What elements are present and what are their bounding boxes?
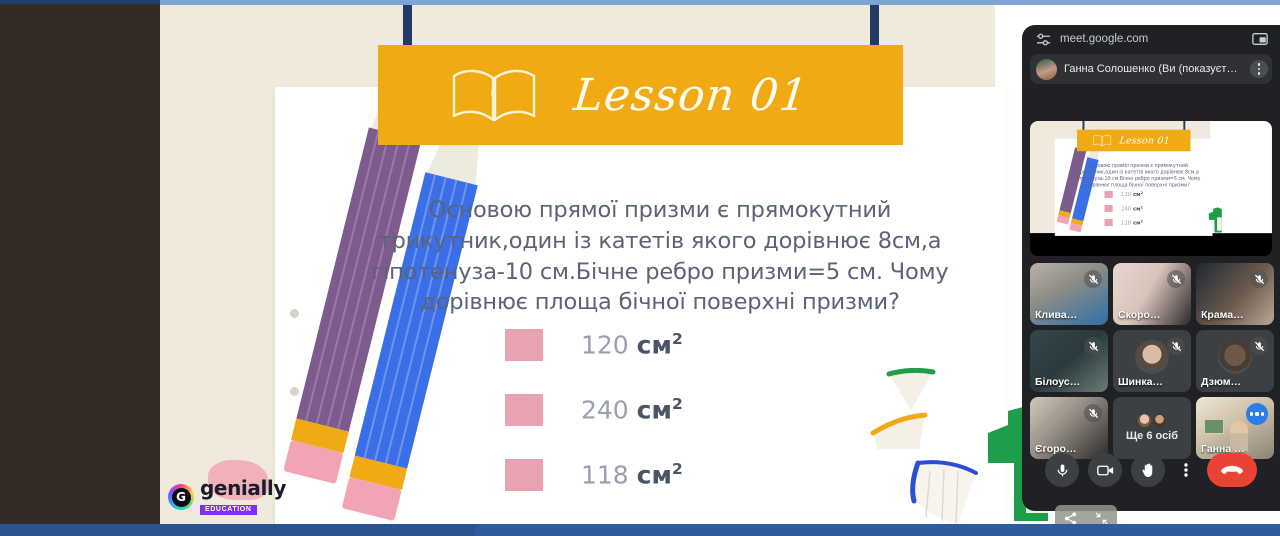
answer-option[interactable]: 120 см2 bbox=[505, 323, 683, 367]
participant-tiles-grid: Клива… Скоро… Крама… bbox=[1030, 263, 1274, 459]
end-call-button[interactable] bbox=[1207, 453, 1257, 487]
participant-name: Дзюм… bbox=[1201, 376, 1259, 388]
presenter-avatar bbox=[1036, 59, 1057, 80]
participant-tile[interactable]: Єгоро… bbox=[1030, 397, 1108, 459]
lesson-banner: Lesson 01 bbox=[378, 45, 903, 145]
answer-unit: см bbox=[637, 396, 672, 425]
answer-chip[interactable] bbox=[505, 329, 543, 361]
participant-tile[interactable]: Білоус… bbox=[1030, 330, 1108, 392]
more-participants-avatars bbox=[1138, 414, 1166, 427]
more-participants-label: Ще 6 осіб bbox=[1126, 430, 1178, 442]
participant-name: Крама… bbox=[1201, 309, 1259, 321]
answer-option[interactable]: 240 см2 bbox=[505, 388, 683, 432]
muted-icon bbox=[1167, 270, 1185, 288]
answer-value: 240 bbox=[581, 396, 629, 425]
answer-exponent: 2 bbox=[672, 330, 683, 348]
more-options-button[interactable] bbox=[1174, 458, 1198, 482]
sliders-icon[interactable] bbox=[1036, 32, 1051, 47]
compress-arrows-icon[interactable] bbox=[1095, 512, 1108, 525]
microphone-button[interactable] bbox=[1045, 453, 1079, 487]
muted-icon bbox=[1167, 337, 1185, 355]
participant-name: Скоро… bbox=[1118, 309, 1176, 321]
picture-in-picture-icon[interactable] bbox=[1252, 32, 1268, 46]
genially-wordmark: genially bbox=[200, 478, 286, 498]
answer-label: 118 см2 bbox=[581, 460, 683, 489]
participant-tile[interactable]: Шинка… bbox=[1113, 330, 1191, 392]
lesson-banner-title: Lesson 01 bbox=[571, 70, 811, 121]
answer-chip[interactable] bbox=[505, 459, 543, 491]
genially-mark-icon: G bbox=[168, 484, 194, 510]
self-participant-tile[interactable]: Ганна … bbox=[1196, 397, 1274, 459]
participant-name: Клива… bbox=[1035, 309, 1093, 321]
avatar bbox=[1153, 414, 1166, 427]
presenter-bar[interactable]: Ганна Солошенко (Ви (показуєт… bbox=[1030, 54, 1272, 84]
participant-name: Шинка… bbox=[1118, 376, 1176, 388]
participant-tile[interactable]: Клива… bbox=[1030, 263, 1108, 325]
desktop-left-strip bbox=[0, 4, 160, 524]
genially-mark-letter: G bbox=[172, 488, 191, 507]
presenting-indicator-icon bbox=[1246, 403, 1268, 425]
avatar bbox=[1138, 414, 1151, 427]
muted-icon bbox=[1084, 404, 1102, 422]
open-book-icon bbox=[448, 64, 540, 126]
share-icon[interactable] bbox=[1064, 512, 1077, 525]
answer-label: 240 см2 bbox=[581, 395, 683, 424]
presenter-menu-icon[interactable] bbox=[1250, 60, 1268, 78]
answer-options-list: 120 см2 240 см2 118 см2 bbox=[505, 323, 683, 518]
camera-button[interactable] bbox=[1088, 453, 1122, 487]
answer-value: 120 bbox=[581, 331, 629, 360]
shared-screen-preview[interactable]: Lesson 01 Основою прямої призми є прямок… bbox=[1030, 121, 1272, 256]
meet-panel-header: meet.google.com bbox=[1022, 25, 1280, 53]
screen: Lesson 01 Основою прямої призми є прямок… bbox=[0, 0, 1280, 536]
taskbar-left-segment bbox=[0, 524, 475, 536]
answer-chip[interactable] bbox=[505, 394, 543, 426]
raise-hand-button[interactable] bbox=[1131, 453, 1165, 487]
muted-icon bbox=[1250, 337, 1268, 355]
genially-edu-badge: EDUCATION bbox=[200, 505, 257, 515]
paper-scrap-blue bbox=[900, 455, 990, 524]
answer-exponent: 2 bbox=[672, 460, 683, 478]
meet-controls-bar bbox=[1022, 453, 1280, 487]
muted-icon bbox=[1084, 270, 1102, 288]
participant-name: Білоус… bbox=[1035, 376, 1093, 388]
answer-unit: см bbox=[637, 461, 672, 490]
answer-value: 118 bbox=[581, 461, 629, 490]
answer-label: 120 см2 bbox=[581, 330, 683, 359]
google-meet-panel: meet.google.com Ганна Солошенко (Ви (пок… bbox=[1022, 25, 1280, 511]
paper-scrap-orange bbox=[865, 405, 935, 453]
participant-tile[interactable]: Скоро… bbox=[1113, 263, 1191, 325]
muted-icon bbox=[1084, 337, 1102, 355]
participant-tile[interactable]: Дзюм… bbox=[1196, 330, 1274, 392]
desktop-taskbar[interactable] bbox=[0, 524, 1280, 536]
answer-option[interactable]: 118 см2 bbox=[505, 453, 683, 497]
question-text: Основою прямої призми є прямокутний трик… bbox=[340, 195, 980, 318]
shared-screen-preview-content: Lesson 01 Основою прямої призми є прямок… bbox=[1030, 121, 1272, 233]
participant-tile[interactable]: Крама… bbox=[1196, 263, 1274, 325]
presenter-name-label: Ганна Солошенко (Ви (показуєт… bbox=[1064, 63, 1243, 75]
answer-exponent: 2 bbox=[672, 395, 683, 413]
answer-unit: см bbox=[637, 331, 672, 360]
muted-icon bbox=[1250, 270, 1268, 288]
more-participants-tile[interactable]: Ще 6 осіб bbox=[1113, 397, 1191, 459]
genially-logo: G genially EDUCATION bbox=[168, 478, 286, 516]
meet-url-label: meet.google.com bbox=[1060, 33, 1243, 45]
